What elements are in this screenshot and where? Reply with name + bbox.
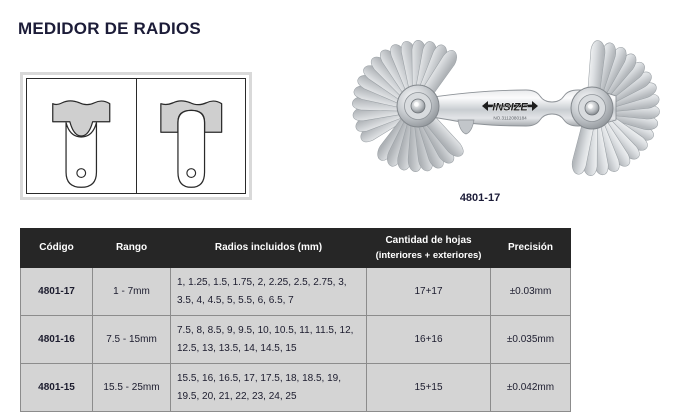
cell-radios: 1, 1.25, 1.5, 1.75, 2, 2.25, 2.5, 2.75, … xyxy=(171,268,367,316)
cell-codigo: 4801-16 xyxy=(21,316,93,364)
usage-diagram-panel xyxy=(20,72,252,200)
cell-precision: ±0.035mm xyxy=(491,316,571,364)
cell-codigo: 4801-17 xyxy=(21,268,93,316)
cell-precision: ±0.042mm xyxy=(491,364,571,412)
cell-rango: 7.5 - 15mm xyxy=(93,316,171,364)
cell-radios: 15.5, 16, 16.5, 17, 17.5, 18, 18.5, 19, … xyxy=(171,364,367,412)
diagram-cell-interior-radius xyxy=(27,79,136,193)
svg-text:INSIZE: INSIZE xyxy=(492,102,528,114)
cell-codigo: 4801-15 xyxy=(21,364,93,412)
cell-rango: 15.5 - 25mm xyxy=(93,364,171,412)
product-photo: INSIZE NO.3112080184 xyxy=(330,20,690,195)
column-header-radios: Radios incluidos (mm) xyxy=(171,229,367,268)
right-pivot-hub-icon xyxy=(571,87,613,129)
product-serial-number: NO.3112080184 xyxy=(493,116,527,121)
column-header-cantidad-main: Cantidad de hojas xyxy=(385,235,471,246)
cell-cantidad: 16+16 xyxy=(367,316,491,364)
left-pivot-hub-icon xyxy=(397,85,439,127)
radius-gauge-photo-icon: INSIZE NO.3112080184 xyxy=(330,20,690,195)
cell-cantidad: 15+15 xyxy=(367,364,491,412)
convex-radius-illustration-icon xyxy=(137,79,246,193)
table-row: 4801-17 1 - 7mm 1, 1.25, 1.5, 1.75, 2, 2… xyxy=(21,268,571,316)
cell-precision: ±0.03mm xyxy=(491,268,571,316)
table-row: 4801-16 7.5 - 15mm 7.5, 8, 8.5, 9, 9.5, … xyxy=(21,316,571,364)
cell-cantidad: 17+17 xyxy=(367,268,491,316)
cell-rango: 1 - 7mm xyxy=(93,268,171,316)
column-header-cantidad: Cantidad de hojas (interiores + exterior… xyxy=(367,229,491,268)
table-row: 4801-15 15.5 - 25mm 15.5, 16, 16.5, 17, … xyxy=(21,364,571,412)
column-header-codigo: Código xyxy=(21,229,93,268)
table-header-row: Código Rango Radios incluidos (mm) Canti… xyxy=(21,229,571,268)
column-header-cantidad-sub: (interiores + exteriores) xyxy=(373,249,484,263)
product-caption: 4801-17 xyxy=(330,192,630,204)
diagram-cell-exterior-radius xyxy=(136,79,246,193)
page-title: MEDIDOR DE RADIOS xyxy=(18,19,201,39)
concave-radius-illustration-icon xyxy=(27,79,136,193)
product-figure: INSIZE NO.3112080184 4801-17 xyxy=(330,20,690,220)
column-header-precision: Precisión xyxy=(491,229,571,268)
usage-diagram-inner xyxy=(26,78,246,194)
column-header-rango: Rango xyxy=(93,229,171,268)
cell-radios: 7.5, 8, 8.5, 9, 9.5, 10, 10.5, 11, 11.5,… xyxy=(171,316,367,364)
specification-table: Código Rango Radios incluidos (mm) Canti… xyxy=(20,228,571,412)
